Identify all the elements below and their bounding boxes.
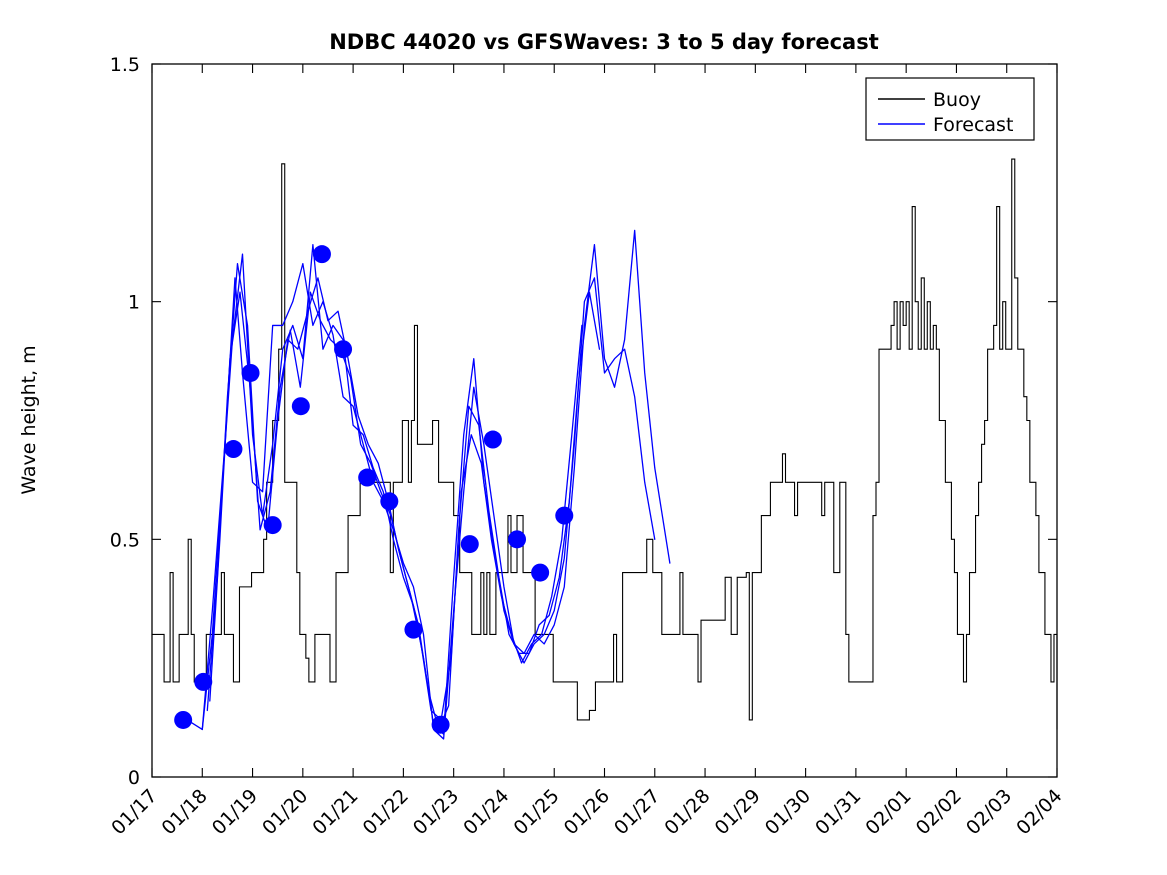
y-tick-label: 0	[128, 767, 140, 789]
plot-frame	[152, 64, 1057, 777]
forecast-verification-marker	[174, 711, 192, 729]
forecast-verification-marker	[432, 716, 450, 734]
x-tick-label: 01/18	[158, 785, 212, 839]
x-tick-label: 01/17	[107, 785, 161, 839]
x-tick-label: 02/02	[912, 785, 966, 839]
x-tick-label: 01/28	[660, 785, 714, 839]
x-tick-label: 01/23	[409, 785, 463, 839]
x-axis-ticks: 01/1701/1801/1901/2001/2101/2201/2301/24…	[107, 64, 1066, 839]
series-line-buoy	[152, 159, 1057, 729]
x-tick-label: 01/31	[811, 785, 865, 839]
y-tick-label: 1.5	[110, 54, 140, 76]
forecast-verification-marker	[461, 535, 479, 553]
x-tick-label: 01/27	[610, 785, 664, 839]
x-tick-label: 01/22	[359, 785, 413, 839]
x-tick-label: 01/20	[258, 785, 312, 839]
forecast-verification-marker	[264, 516, 282, 534]
forecast-verification-marker	[555, 507, 573, 525]
x-tick-label: 02/04	[1012, 785, 1066, 839]
forecast-verification-marker	[334, 340, 352, 358]
forecast-verification-marker	[242, 364, 260, 382]
x-tick-label: 01/24	[459, 785, 513, 839]
marker-layer	[174, 245, 573, 734]
x-tick-label: 02/03	[962, 785, 1016, 839]
forecast-verification-marker	[292, 397, 310, 415]
x-tick-label: 01/29	[711, 785, 765, 839]
chart-legend: Buoy Forecast	[866, 78, 1034, 140]
chart-title: NDBC 44020 vs GFSWaves: 3 to 5 day forec…	[329, 30, 879, 54]
x-tick-label: 01/26	[560, 785, 614, 839]
y-tick-label: 1	[128, 292, 140, 314]
forecast-verification-marker	[380, 492, 398, 510]
forecast-verification-marker	[508, 530, 526, 548]
x-tick-label: 01/19	[208, 785, 262, 839]
y-axis-label: Wave height, m	[18, 345, 40, 494]
forecast-verification-marker	[531, 564, 549, 582]
y-tick-label: 0.5	[110, 529, 140, 551]
forecast-verification-marker	[484, 431, 502, 449]
x-tick-label: 02/01	[861, 785, 915, 839]
legend-label-buoy: Buoy	[933, 89, 981, 111]
x-tick-label: 01/21	[308, 785, 362, 839]
series-layer	[152, 159, 1057, 739]
forecast-verification-marker	[224, 440, 242, 458]
forecast-verification-marker	[358, 469, 376, 487]
forecast-verification-marker	[404, 621, 422, 639]
forecast-verification-marker	[313, 245, 331, 263]
x-tick-label: 01/25	[509, 785, 563, 839]
forecast-verification-marker	[194, 673, 212, 691]
legend-label-forecast: Forecast	[933, 114, 1013, 136]
chart-figure: NDBC 44020 vs GFSWaves: 3 to 5 day forec…	[0, 0, 1167, 875]
wave-height-chart: NDBC 44020 vs GFSWaves: 3 to 5 day forec…	[0, 0, 1167, 875]
x-tick-label: 01/30	[761, 785, 815, 839]
